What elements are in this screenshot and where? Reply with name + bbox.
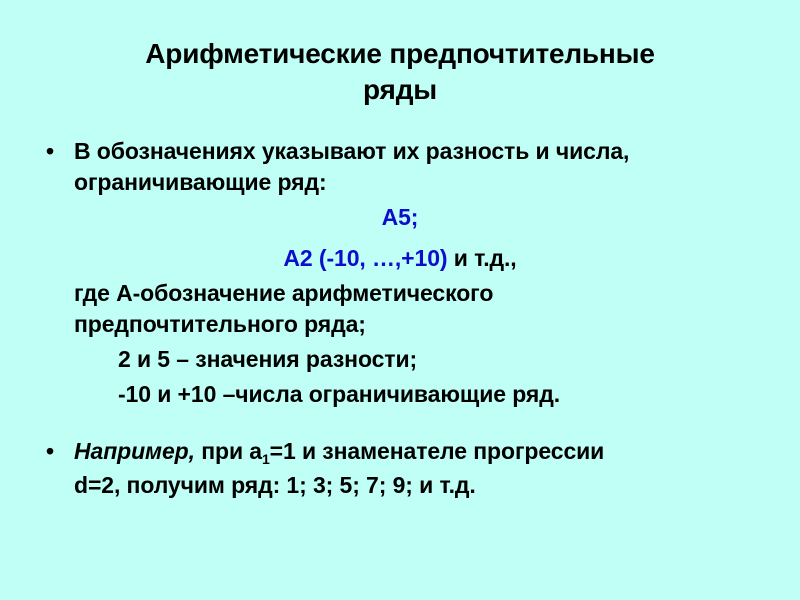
formula-2-black-text: и т.д., [447,245,516,271]
title-line-2: ряды [40,72,760,108]
formula-line-2: А2 (-10, …,+10) и т.д., [0,243,800,274]
bullet-2-subscript: 1 [262,451,270,467]
bullet-item-2: • Например, при а1=1 и знаменателе прогр… [0,436,800,501]
formula-line-1: А5; [0,202,800,233]
note-1-line-1: где А-обозначение арифметического [74,280,493,306]
page-title: Арифметические предпочтительные ряды [40,36,760,108]
slide-body: • В обозначениях указывают их разность и… [0,136,800,501]
slide: Арифметические предпочтительные ряды • В… [0,0,800,600]
note-2-text: 2 и 5 – значения разности; [118,346,417,372]
bullet-item-1: • В обозначениях указывают их разность и… [0,136,800,198]
note-line-1: где А-обозначение арифметического предпо… [0,278,800,340]
note-1-line-2: предпочтительного ряда; [74,311,366,337]
bullet-marker-icon: • [46,136,54,167]
bullet-2-line-1-part-a: при а [195,438,262,464]
bullet-2-line-1-part-b: =1 и знаменателе прогрессии [270,438,605,464]
note-line-3: -10 и +10 –числа ограничивающие ряд. [0,379,800,410]
bullet-2-line-2: d=2, получим ряд: 1; 3; 5; 7; 9; и т.д. [74,472,476,498]
bullet-1-line-1: В обозначениях указывают их разность и ч… [74,138,629,164]
bullet-marker-icon: • [46,436,54,467]
spacer [0,233,800,243]
bullet-1-line-2: ограничивающие ряд: [74,169,327,195]
title-line-1: Арифметические предпочтительные [40,36,760,72]
spacer [0,410,800,436]
bullet-2-italic-lead: Например, [74,438,195,464]
note-3-text: -10 и +10 –числа ограничивающие ряд. [118,381,560,407]
note-line-2: 2 и 5 – значения разности; [0,344,800,375]
formula-1-text: А5; [382,204,419,230]
formula-2-blue-text: А2 (-10, …,+10) [283,245,447,271]
